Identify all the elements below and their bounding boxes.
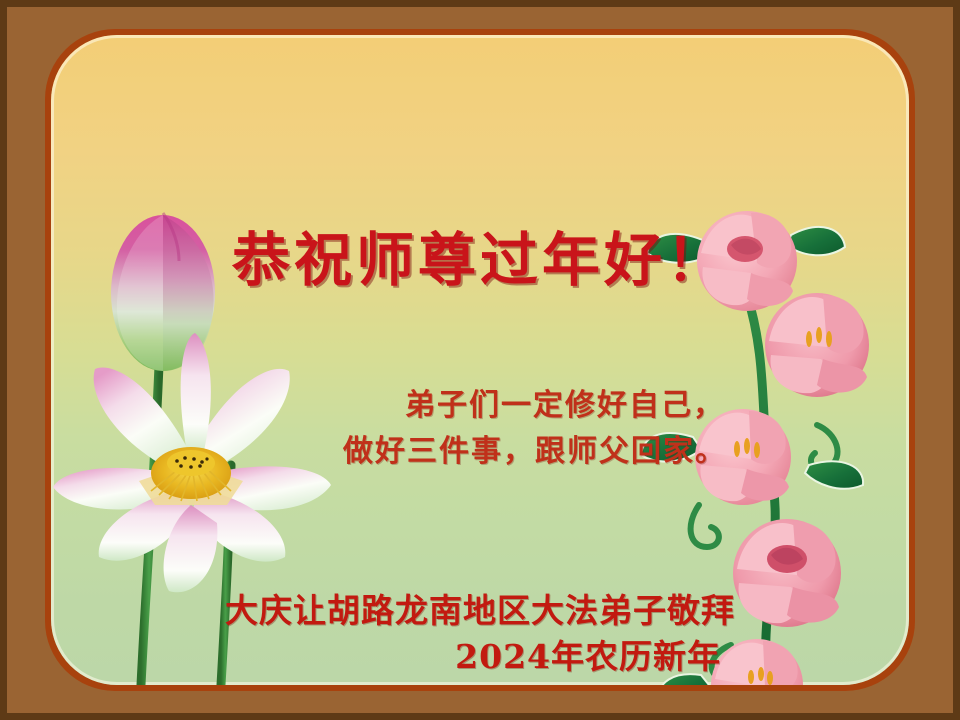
peony-flower bbox=[711, 639, 803, 685]
greeting-body-text: 弟子们一定修好自己，做好三件事，跟师父回家。 bbox=[343, 383, 743, 475]
lotus-stem-left bbox=[141, 365, 159, 685]
page-title: 恭祝师尊过年好！ bbox=[51, 213, 909, 297]
signature-date: 2024年农历新年 bbox=[455, 630, 721, 678]
tendril bbox=[811, 425, 838, 469]
lotus-stem-right bbox=[221, 465, 231, 685]
lotus-flower-icon bbox=[53, 333, 331, 592]
tendril bbox=[691, 505, 719, 547]
signature-organization: 大庆让胡路龙南地区大法弟子敬拜 bbox=[51, 584, 909, 632]
peony-flower bbox=[765, 293, 869, 397]
card-panel: 恭祝师尊过年好！ 弟子们一定修好自己，做好三件事，跟师父回家。 大庆让胡路龙南地… bbox=[51, 35, 909, 685]
lotus-core bbox=[139, 447, 243, 505]
greeting-card: 恭祝师尊过年好！ 弟子们一定修好自己，做好三件事，跟师父回家。 大庆让胡路龙南地… bbox=[0, 0, 960, 720]
